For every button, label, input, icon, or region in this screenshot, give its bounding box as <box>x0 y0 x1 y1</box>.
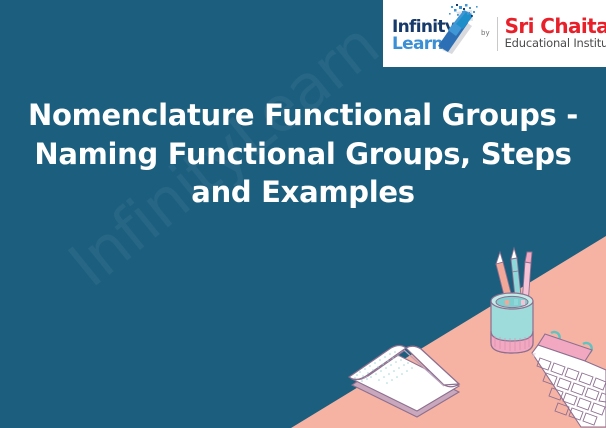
sri-chaitanya-tagline: Educational Institutions <box>505 37 606 50</box>
sri-chaitanya-logo: Sri Chaitanya Educational Institutions <box>505 16 606 50</box>
logo-plate: Infinity Learn <box>383 0 606 67</box>
infinity-arrow-bird-icon <box>432 4 480 56</box>
infinity-learn-logo: Infinity Learn <box>392 6 478 62</box>
page-title: Nomenclature Functional Groups - Naming … <box>22 96 584 212</box>
sri-chaitanya-name: Sri Chaitanya <box>505 16 606 37</box>
logo-divider <box>497 17 498 51</box>
banner-image: InfinityLearn.com Infinity Learn <box>0 0 606 428</box>
logo-connector-by: by <box>481 29 490 39</box>
